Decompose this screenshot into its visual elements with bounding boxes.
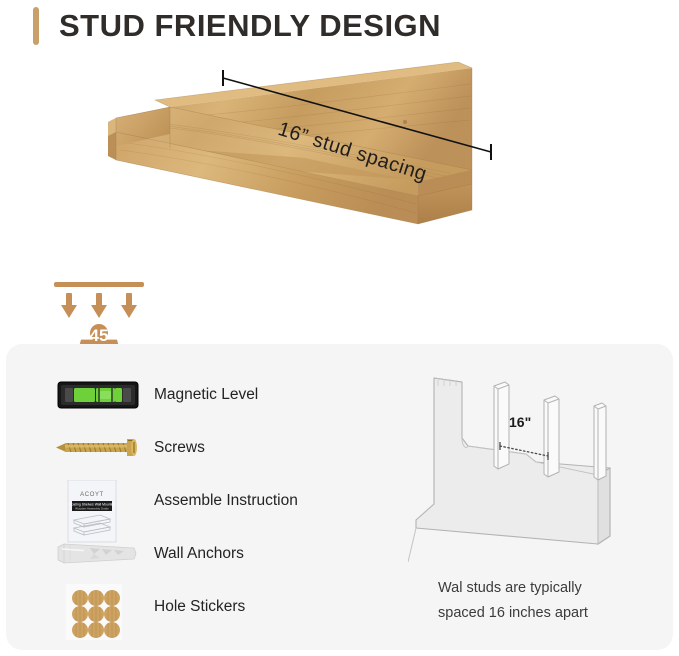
stud-caption-line-1: Wal studs are typically [438, 576, 668, 601]
stud-caption-line-2: spaced 16 inches apart [438, 601, 668, 626]
list-item: Hole Stickers [50, 580, 380, 633]
screw-icon [50, 421, 146, 474]
wall-anchor-icon [50, 527, 146, 580]
svg-text:ACOYT: ACOYT [80, 492, 104, 498]
header: STUD FRIENDLY DESIGN [0, 0, 679, 52]
accent-bar [33, 7, 39, 45]
list-item-label: Hole Stickers [154, 598, 245, 616]
list-item: ACOYT Floating Shelves Wall Mounted Wood… [50, 474, 380, 527]
accessories-list: Magnetic Level [50, 368, 380, 633]
list-item: Screws [50, 421, 380, 474]
wall-studs-diagram: 16" [408, 376, 658, 566]
hero-section: 16” stud spacing [0, 52, 679, 340]
stud-dimension-label: 16" [509, 414, 531, 430]
list-item-label: Assemble Instruction [154, 492, 298, 510]
svg-text:Wooden Assembly Guide: Wooden Assembly Guide [75, 507, 109, 511]
list-item-label: Wall Anchors [154, 545, 244, 563]
studs-illustration [408, 376, 658, 566]
magnetic-level-icon [50, 368, 146, 421]
list-item-label: Screws [154, 439, 205, 457]
product-infographic: STUD FRIENDLY DESIGN [0, 0, 679, 656]
list-item: Magnetic Level [50, 368, 380, 421]
accessories-panel: Magnetic Level [6, 344, 673, 650]
stud-caption: Wal studs are typically spaced 16 inches… [438, 576, 668, 626]
list-item: Wall Anchors [50, 527, 380, 580]
instruction-sheet-icon: ACOYT Floating Shelves Wall Mounted Wood… [50, 474, 146, 527]
page-title: STUD FRIENDLY DESIGN [59, 8, 441, 44]
list-item-label: Magnetic Level [154, 386, 258, 404]
hole-stickers-icon [50, 580, 146, 633]
